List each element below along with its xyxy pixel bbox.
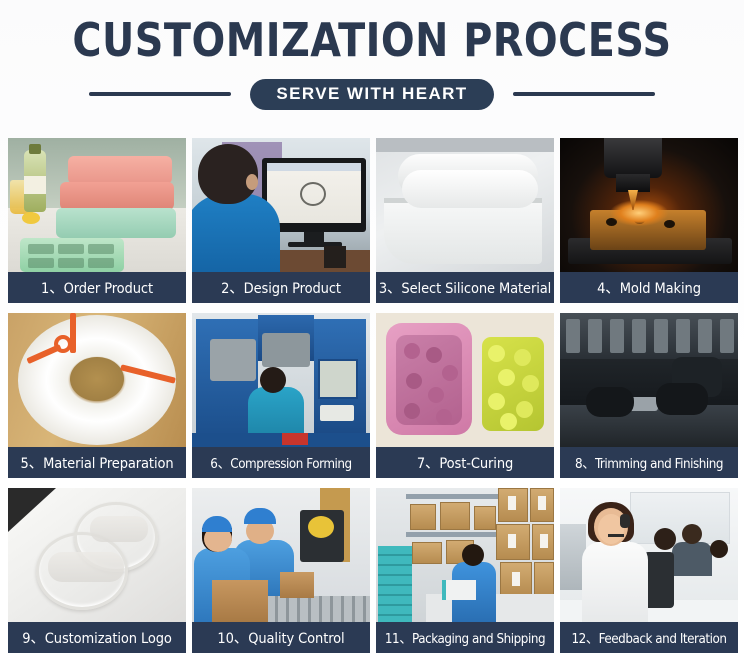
rule-left: [89, 92, 231, 96]
step-6-caption: 6、Compression Forming: [192, 447, 370, 478]
subtitle-row: SERVE WITH HEART: [0, 78, 744, 110]
step-4-caption: 4、Mold Making: [560, 272, 738, 303]
step-11-caption: 11、Packaging and Shipping: [376, 622, 554, 653]
process-step-8[interactable]: 8、Trimming and Finishing: [560, 313, 738, 478]
tagline-badge: SERVE WITH HEART: [250, 79, 493, 110]
process-step-12[interactable]: 12、Feedback and Iteration: [560, 488, 738, 653]
step-12-image: [560, 488, 738, 622]
step-2-image: [192, 138, 370, 272]
process-step-5[interactable]: 5、Material Preparation: [8, 313, 186, 478]
infographic-page: CUSTOMIZATION PROCESS SERVE WITH HEART: [0, 0, 744, 666]
process-step-9[interactable]: 9、Customization Logo: [8, 488, 186, 653]
process-step-4[interactable]: 4、Mold Making: [560, 138, 738, 303]
step-12-caption: 12、Feedback and Iteration: [560, 622, 738, 653]
page-title: CUSTOMIZATION PROCESS: [15, 14, 729, 66]
header: CUSTOMIZATION PROCESS SERVE WITH HEART: [0, 0, 744, 110]
process-step-1[interactable]: 1、Order Product: [8, 138, 186, 303]
step-9-caption: 9、Customization Logo: [8, 622, 186, 653]
process-step-10[interactable]: 10、Quality Control: [192, 488, 370, 653]
step-2-caption: 2、Design Product: [192, 272, 370, 303]
step-10-image: [192, 488, 370, 622]
step-1-image: [8, 138, 186, 272]
step-5-caption: 5、Material Preparation: [8, 447, 186, 478]
rule-right: [513, 92, 655, 96]
step-1-caption: 1、Order Product: [8, 272, 186, 303]
process-grid: 1、Order Product 2、Design Product 3、Sel: [8, 138, 736, 653]
step-4-image: [560, 138, 738, 272]
step-6-image: [192, 313, 370, 447]
process-step-3[interactable]: 3、Select Silicone Material: [376, 138, 554, 303]
step-9-image: [8, 488, 186, 622]
step-3-image: [376, 138, 554, 272]
step-10-caption: 10、Quality Control: [192, 622, 370, 653]
process-step-6[interactable]: 6、Compression Forming: [192, 313, 370, 478]
step-7-image: [376, 313, 554, 447]
step-7-caption: 7、Post-Curing: [376, 447, 554, 478]
step-11-image: [376, 488, 554, 622]
step-3-caption: 3、Select Silicone Material: [376, 272, 554, 303]
step-5-image: [8, 313, 186, 447]
process-step-2[interactable]: 2、Design Product: [192, 138, 370, 303]
process-step-11[interactable]: 11、Packaging and Shipping: [376, 488, 554, 653]
step-8-image: [560, 313, 738, 447]
step-8-caption: 8、Trimming and Finishing: [560, 447, 738, 478]
process-step-7[interactable]: 7、Post-Curing: [376, 313, 554, 478]
